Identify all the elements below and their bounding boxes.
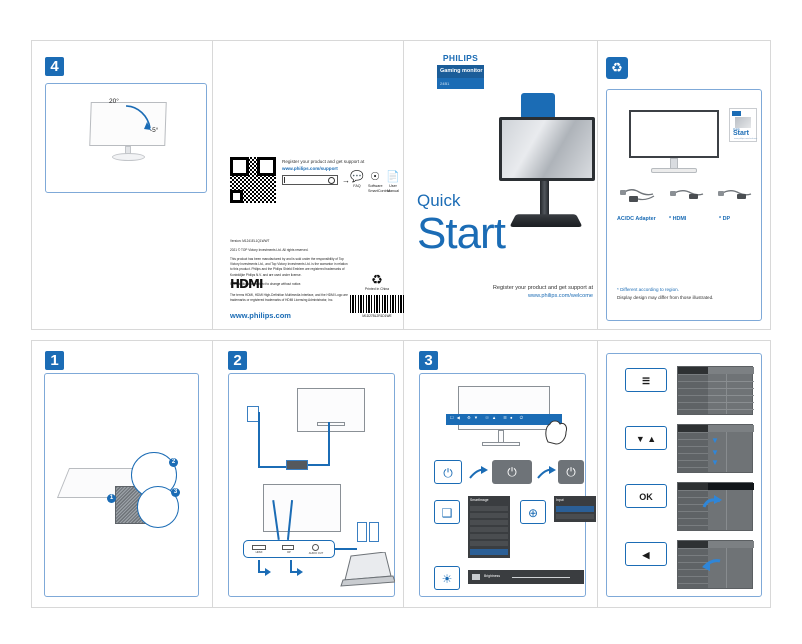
- ac-adapter-brick: [286, 460, 308, 470]
- monitor-neck: [540, 181, 549, 215]
- legal-copyright: 2021 © TOP Victory Investments Ltd. All …: [230, 248, 350, 253]
- speaker-wire: [335, 548, 357, 550]
- cover-register-text: Register your product and get support at…: [477, 284, 593, 301]
- audio-out-port-label: AUDIO OUT: [304, 552, 328, 555]
- quick-start-booklet: Quick Start www.philips.com/welcome: [729, 108, 757, 142]
- arrow-down-1-icon: [257, 560, 271, 578]
- barcode-number: M1D27BL2R1D1WE: [350, 314, 404, 318]
- support-line: Register your product and get support at: [282, 159, 397, 166]
- quick-start-sheet: 4 20° -5° Register your product a: [31, 40, 771, 608]
- step-2-frame: HDMI DP AUDIO OUT: [228, 373, 395, 597]
- arrow-down-2-icon: [289, 560, 303, 578]
- step-number-4: 4: [45, 57, 64, 76]
- panel-osd-navigation: ☰ ▼ ▲: [605, 347, 765, 603]
- callout-3: 3: [171, 488, 180, 497]
- input-source-key[interactable]: ⊕: [520, 500, 546, 524]
- input-source-menu: Input: [554, 496, 596, 522]
- brightness-track[interactable]: [512, 577, 570, 578]
- faq-icon[interactable]: 💬 FAQ: [350, 171, 364, 189]
- back-arrow-icon: [700, 557, 722, 571]
- sheet-row-bottom: 1 1 2 3 2: [31, 340, 771, 608]
- tilt-up-angle: 20°: [109, 98, 119, 105]
- menu-key[interactable]: ☰: [625, 368, 667, 392]
- step-1-frame: 1 2 3: [44, 373, 199, 597]
- dp-port-label: DP: [279, 551, 299, 554]
- input-menu-title: Input: [556, 498, 564, 502]
- osd-screenshot-1: [677, 366, 753, 415]
- smartimage-menu: SmartImage: [468, 496, 510, 558]
- region-note: * Different according to region.: [617, 286, 757, 294]
- hdmi-cable-label: * HDMI: [669, 216, 686, 222]
- smartimage-menu-title: SmartImage: [470, 498, 488, 502]
- philips-url: www.philips.com: [230, 311, 291, 320]
- search-caret: [284, 177, 285, 183]
- design-note: Display design may differ from those ill…: [617, 294, 757, 302]
- callout-1: 1: [107, 494, 116, 503]
- osd-screenshot-3: [677, 482, 753, 531]
- monitor-base: [112, 153, 145, 161]
- input-menu-selected: [556, 506, 594, 512]
- printed-in-label: Printed in China: [365, 287, 389, 291]
- smartimage-menu-selected: [470, 549, 508, 555]
- osd-navigation-frame: ☰ ▼ ▲: [606, 353, 762, 597]
- box-contents-icon: ♻: [606, 57, 628, 79]
- philips-wordmark: PHILIPS: [437, 51, 484, 65]
- box-contents-note: * Different according to region. Display…: [617, 286, 757, 302]
- brightness-label: Brightness: [484, 574, 500, 578]
- software-icon[interactable]: ☉ Software SmartControl: [368, 171, 382, 193]
- faq-label: FAQ: [353, 184, 360, 188]
- hdmi-port-label: HDMI: [249, 551, 269, 554]
- dp-port: [282, 545, 294, 550]
- monitor-base: [509, 214, 582, 227]
- hdmi-legal-text: The terms HDMI, HDMI High-Definition Mul…: [230, 293, 348, 303]
- recycle-mark: ♻ Printed in China: [354, 273, 400, 291]
- panel-step-3: 3 ☐◀ ⚙▼ ☉▲ ☰● ⏻ ⏻ ⏻ ⏻: [411, 347, 594, 603]
- speaker-left-icon: [357, 522, 367, 542]
- monitor-screen: [629, 110, 719, 158]
- osd-screenshot-2: ▼ ▼ ▼: [677, 424, 753, 473]
- recycle-icon: ♻: [354, 273, 400, 287]
- legal-manufacturer: This product has been manufactured by an…: [230, 257, 350, 277]
- back-key[interactable]: ◀: [625, 542, 667, 566]
- power-key[interactable]: ⏻: [434, 460, 462, 484]
- power-key-pressed-2[interactable]: ⏻: [558, 460, 584, 484]
- arrow-right-icon: →: [342, 177, 350, 185]
- step-3-frame: ☐◀ ⚙▼ ☉▲ ☰● ⏻ ⏻ ⏻ ⏻ ❑: [419, 373, 586, 597]
- booklet-start-label: Start: [733, 130, 749, 138]
- user-manual-icon[interactable]: 📄 User Manual: [386, 171, 400, 193]
- ok-key[interactable]: OK: [625, 484, 667, 508]
- laptop-icon: [339, 552, 395, 590]
- monitor-base: [482, 442, 520, 446]
- cover-register-url: www.philips.com/welcome: [477, 292, 593, 300]
- speaker-right-icon: [369, 522, 379, 542]
- panel-registration: Register your product and get support at…: [220, 51, 403, 321]
- ac-dc-adapter-icon: [617, 185, 661, 211]
- arrow-next-2-icon: [536, 466, 556, 482]
- adapter-wire-up: [328, 422, 330, 466]
- cover-title: Quick Start: [417, 191, 505, 257]
- down-arrow-icon: ▼: [711, 437, 719, 445]
- tilt-illustration-frame: 20° -5°: [45, 83, 207, 193]
- arrow-next-1-icon: [468, 466, 488, 482]
- legal-version: Version: M1241EL1Q1WWT: [230, 239, 350, 244]
- booklet-url-label: www.philips.com/welcome: [734, 138, 757, 140]
- power-key-pressed-1[interactable]: ⏻: [492, 460, 532, 484]
- monitor-base: [651, 168, 697, 173]
- power-wire-vertical: [258, 412, 260, 468]
- monitor-hero-image: [499, 117, 595, 233]
- cover-register-line1: Register your product and get support at: [477, 284, 593, 292]
- brightness-slider-osd: Brightness: [468, 570, 584, 584]
- cover-title-quick: Quick: [417, 191, 505, 211]
- model-label: 24B1: [437, 78, 484, 89]
- barcode: [350, 295, 404, 313]
- qr-finder-bottom-left: [230, 190, 243, 203]
- hdmi-port: [252, 545, 266, 550]
- panel-step-2: 2 HDMI DP AUDIO OUT: [220, 347, 403, 603]
- monitor-stand-upper: [317, 422, 345, 426]
- power-wire-horizontal: [258, 466, 286, 468]
- down-arrow-icon-3: ▼: [711, 459, 719, 467]
- search-icon: [328, 177, 335, 184]
- callout-2: 2: [169, 458, 178, 467]
- panel-step-1: 1 1 2 3: [40, 347, 212, 603]
- panel-box-contents: ♻ Quick Start www.philips.com/welcome: [605, 51, 765, 321]
- monitor-front-view: [629, 110, 719, 172]
- product-line-label: Gaming monitor: [437, 65, 484, 78]
- user-manual-label: User Manual: [387, 184, 399, 193]
- ac-dc-adapter-label: AC/DC Adapter: [617, 216, 656, 222]
- cover-title-start: Start: [417, 211, 505, 257]
- panel-tilt: 4 20° -5°: [40, 51, 212, 321]
- support-icon-set: 💬 FAQ ☉ Software SmartControl 📄 User Man…: [350, 171, 400, 197]
- monitor-screen: [499, 117, 595, 181]
- hdmi-logo: HDMI: [230, 277, 262, 291]
- step-number-2: 2: [228, 351, 247, 370]
- base-assembly-illustration: 1 2 3: [63, 458, 183, 528]
- step-number-1: 1: [45, 351, 64, 370]
- osd-screenshot-4: [677, 540, 753, 589]
- philips-logo-block: PHILIPS Gaming monitor 24B1: [437, 51, 484, 92]
- tilt-down-angle: -5°: [150, 127, 158, 134]
- port-callout-box: HDMI DP AUDIO OUT: [243, 540, 335, 558]
- step-number-3: 3: [419, 351, 438, 370]
- down-arrow-icon-2: ▼: [711, 449, 719, 457]
- dp-cable-icon: [713, 185, 757, 211]
- sheet-row-top: 4 20° -5° Register your product a: [31, 40, 771, 330]
- enter-arrow-icon: [702, 495, 724, 509]
- box-contents-frame: Quick Start www.philips.com/welcome AC: [606, 89, 762, 321]
- updown-key[interactable]: ▼ ▲: [625, 426, 667, 450]
- smartimage-key[interactable]: ❑: [434, 500, 460, 524]
- panel-cover: PHILIPS Gaming monitor 24B1 Quick Start …: [411, 41, 597, 321]
- brightness-key[interactable]: ☀: [434, 566, 460, 590]
- audio-out-port: [312, 544, 319, 551]
- adapter-wire: [308, 464, 330, 466]
- dp-cable-label: * DP: [719, 216, 730, 222]
- hand-cursor-icon: [540, 416, 572, 446]
- hdmi-cable-icon: [665, 185, 709, 211]
